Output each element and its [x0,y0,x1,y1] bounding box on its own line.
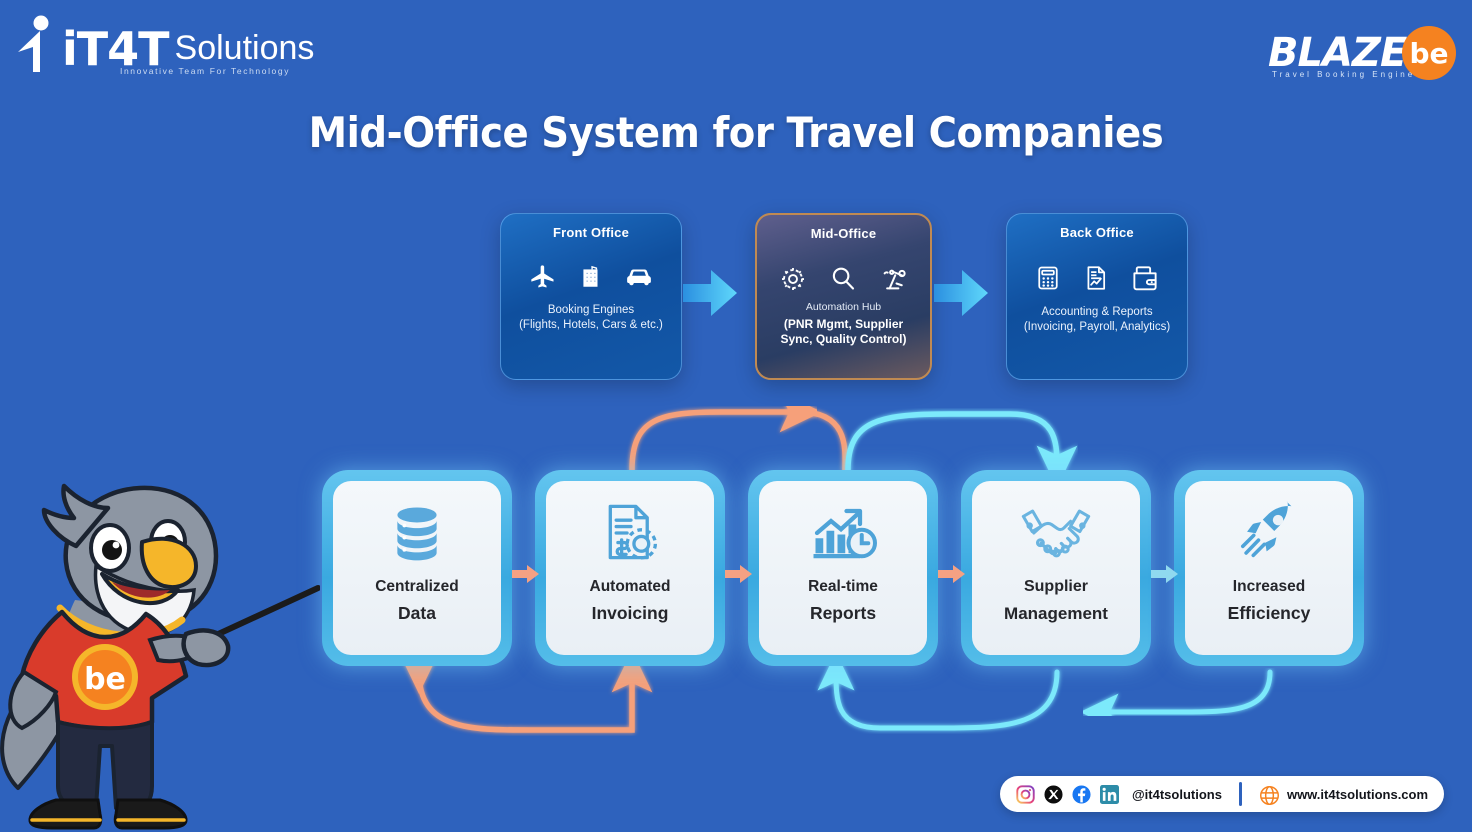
front-office-heading: Front Office [501,225,681,240]
front-office-caption-line1: Booking Engines [507,303,675,318]
back-office-icons [1007,263,1187,293]
step-arrow-3-icon [938,562,966,586]
back-office-caption-line2: (Invoicing, Payroll, Analytics) [1013,320,1181,335]
supplier-management-label: Supplier Management [1004,567,1108,623]
database-icon [386,497,448,567]
blaze-be-logo: BLAZE be Travel Booking Engine [1250,20,1462,86]
mid-office-caption-line1: Automation Hub [763,300,924,315]
mid-office-caption-line3: Sync, Quality Control) [763,332,924,347]
front-office-caption: Booking Engines (Flights, Hotels, Cars &… [501,303,681,332]
handshake-icon [1017,497,1095,567]
step-arrow-1-icon [512,562,540,586]
rocket-icon [1236,497,1302,567]
card-front-office: Front Office [500,213,682,380]
website-url[interactable]: www.it4tsolutions.com [1287,787,1428,802]
linkedin-icon[interactable] [1100,785,1119,804]
real-time-reports-label: Real-time Reports [808,567,878,623]
gear-icon [778,264,808,294]
mid-office-heading: Mid-Office [757,226,930,241]
card-centralized-data[interactable]: Centralized Data [322,470,512,666]
footer-divider [1239,782,1242,806]
real-time-reports-line2: Reports [808,604,878,622]
curve-invoicing-to-reports-tail [800,412,845,470]
front-office-icons [501,263,681,291]
increased-efficiency-label: Increased Efficiency [1228,567,1311,623]
arrow-mid-to-back-icon [934,266,990,320]
supplier-management-line2: Management [1004,605,1108,623]
centralized-data-line1: Centralized [375,579,459,595]
poster-canvas: iT4T Solutions Innovative Team For Techn… [0,0,1472,832]
page-title: Mid-Office System for Travel Companies [59,108,1413,157]
social-handle[interactable]: @it4tsolutions [1132,787,1222,802]
calculator-icon [1034,263,1062,293]
invoice-gear-icon [597,497,663,567]
arrow-front-to-mid-icon [683,266,739,320]
curve-supplier-to-reports [836,672,1057,728]
back-office-caption: Accounting & Reports (Invoicing, Payroll… [1007,305,1187,334]
robot-arm-icon [878,264,910,294]
curve-invoicing-to-centralized [419,672,632,730]
instagram-icon[interactable] [1016,785,1035,804]
svg-text:be: be [84,662,126,697]
mid-office-icons [757,264,930,294]
centralized-data-line2: Data [375,604,459,622]
hotel-icon [578,263,604,291]
curve-invoicing-to-reports [632,412,800,470]
report-document-icon [1082,263,1110,293]
curve-reports-to-supplier [848,414,1057,470]
step-arrow-2-icon [725,562,753,586]
it4t-solutions-logo: iT4T Solutions Innovative Team For Techn… [16,14,314,76]
left-logo-tagline: Innovative Team For Technology [120,66,290,76]
social-footer-bar: @it4tsolutions www.it4tsolutions.com [1000,776,1444,812]
card-automated-invoicing[interactable]: Automated Invoicing [535,470,725,666]
it4t-person-mark [16,14,62,76]
card-real-time-reports[interactable]: Real-time Reports [748,470,938,666]
card-back-office: Back Office [1006,213,1188,380]
x-twitter-icon[interactable] [1044,785,1063,804]
magnifier-icon [828,264,858,294]
automated-invoicing-line1: Automated [590,579,671,595]
facebook-icon[interactable] [1072,785,1091,804]
automated-invoicing-line2: Invoicing [590,604,671,622]
card-increased-efficiency[interactable]: Increased Efficiency [1174,470,1364,666]
supplier-management-line1: Supplier [1004,579,1108,596]
mid-office-caption: Automation Hub (PNR Mgmt, Supplier Sync,… [757,300,930,347]
step-arrow-4-icon [1151,562,1179,586]
blaze-tagline: Travel Booking Engine [1272,70,1415,79]
chart-clock-icon [808,497,878,567]
back-office-caption-line1: Accounting & Reports [1013,305,1181,320]
centralized-data-label: Centralized Data [375,567,459,623]
car-icon [624,264,654,290]
mid-office-caption-line2: (PNR Mgmt, Supplier [763,317,924,332]
wallet-icon [1130,263,1160,293]
automated-invoicing-label: Automated Invoicing [590,567,671,623]
be-bird-mascot: be [0,470,320,832]
front-office-caption-line2: (Flights, Hotels, Cars & etc.) [507,318,675,333]
back-office-heading: Back Office [1007,225,1187,240]
increased-efficiency-line1: Increased [1228,579,1311,595]
card-supplier-management[interactable]: Supplier Management [961,470,1151,666]
curve-efficiency-to-supplier [1100,672,1270,712]
real-time-reports-line1: Real-time [808,579,878,595]
increased-efficiency-line2: Efficiency [1228,604,1311,622]
plane-icon [528,263,558,291]
card-mid-office: Mid-Office [755,213,932,380]
globe-icon [1259,785,1278,804]
